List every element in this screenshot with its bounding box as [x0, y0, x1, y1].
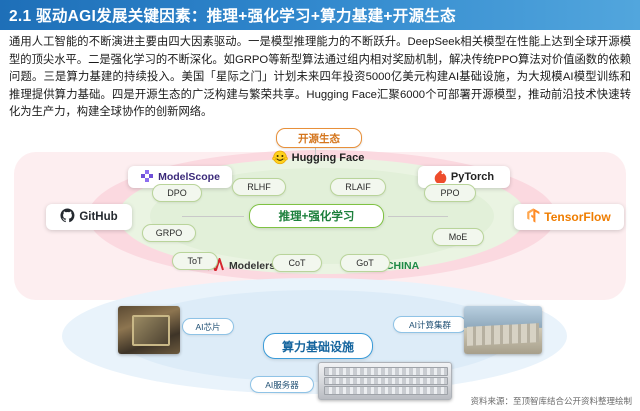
slide-root: 2.1 驱动AGI发展关键因素：推理+强化学习+算力基建+开源生态 通用人工智能…: [0, 0, 640, 411]
chip-label: DPO: [167, 188, 187, 198]
chip-rlhf[interactable]: RLHF: [232, 178, 286, 196]
chip-label: RLHF: [247, 182, 271, 192]
tensorflow-icon: [527, 208, 540, 226]
brand-label: ModelScope: [158, 171, 220, 183]
chip-label: CoT: [288, 258, 305, 268]
chip-grpo[interactable]: GRPO: [142, 224, 196, 242]
chip-dpo[interactable]: DPO: [152, 184, 202, 202]
diagram-canvas: 开源生态 Hugging Face: [0, 128, 640, 400]
connector-line: [388, 216, 448, 217]
chip-label: AI芯片: [195, 321, 220, 333]
brand-label: PyTorch: [451, 171, 494, 183]
open-source-pill-label: 开源生态: [298, 131, 340, 146]
chip-label: GRPO: [156, 228, 183, 238]
modelscope-icon: [140, 169, 154, 186]
data-center-photo: [464, 306, 542, 354]
reasoning-rl-label: 推理+强化学习: [279, 208, 355, 224]
chip-got[interactable]: GoT: [340, 254, 390, 272]
github-icon: [60, 208, 75, 226]
ai-server-photo: [318, 362, 452, 400]
brand-label: TensorFlow: [544, 210, 610, 224]
chip-cot[interactable]: CoT: [272, 254, 322, 272]
pytorch-icon: [434, 169, 447, 186]
brand-hugging-face[interactable]: Hugging Face: [255, 148, 381, 168]
chip-label: AI计算集群: [409, 319, 451, 331]
server-bay: [324, 367, 447, 375]
chip-tot[interactable]: ToT: [172, 252, 218, 270]
brand-github[interactable]: GitHub: [46, 204, 132, 230]
reasoning-rl-pill: 推理+强化学习: [249, 204, 384, 228]
brand-label: GitHub: [79, 211, 117, 223]
infrastructure-label: 算力基础设施: [282, 338, 354, 355]
infrastructure-pill: 算力基础设施: [263, 333, 373, 359]
datacenter-roofs: [467, 323, 539, 346]
chip-label: PPO: [440, 188, 459, 198]
chip-label: MoE: [449, 232, 468, 242]
server-bay: [324, 386, 447, 394]
hugging-face-icon: [272, 149, 288, 168]
chip-ppo[interactable]: PPO: [424, 184, 476, 202]
brand-label: Modelers: [229, 260, 275, 272]
chip-die: [132, 315, 171, 347]
page-title: 2.1 驱动AGI发展关键因素：推理+强化学习+算力基建+开源生态: [0, 4, 456, 26]
open-source-pill: 开源生态: [276, 128, 362, 148]
chip-moe[interactable]: MoE: [432, 228, 484, 246]
chip-ai-cluster[interactable]: AI计算集群: [393, 316, 467, 333]
paragraph-text: 通用人工智能的不断演进主要由四大因素驱动。一是模型推理能力的不断跃升。DeepS…: [9, 36, 631, 118]
chip-label: AI服务器: [265, 379, 299, 391]
server-bay: [324, 377, 447, 385]
slide-title-bar: 2.1 驱动AGI发展关键因素：推理+强化学习+算力基建+开源生态: [0, 0, 640, 30]
chip-rlaif[interactable]: RLAIF: [330, 178, 386, 196]
source-note: 资料来源：至顶智库结合公开资料整理绘制: [470, 395, 632, 407]
chip-label: RLAIF: [345, 182, 371, 192]
chip-ai-chip[interactable]: AI芯片: [182, 318, 234, 335]
chip-label: ToT: [187, 256, 202, 266]
chip-ai-server[interactable]: AI服务器: [250, 376, 314, 393]
brand-label: Hugging Face: [292, 152, 365, 164]
ai-chip-photo: [118, 306, 180, 354]
brand-tensorflow[interactable]: TensorFlow: [514, 204, 624, 230]
chip-label: GoT: [356, 258, 374, 268]
body-paragraph: 通用人工智能的不断演进主要由四大因素驱动。一是模型推理能力的不断跃升。DeepS…: [9, 34, 631, 122]
connector-line: [182, 216, 244, 217]
